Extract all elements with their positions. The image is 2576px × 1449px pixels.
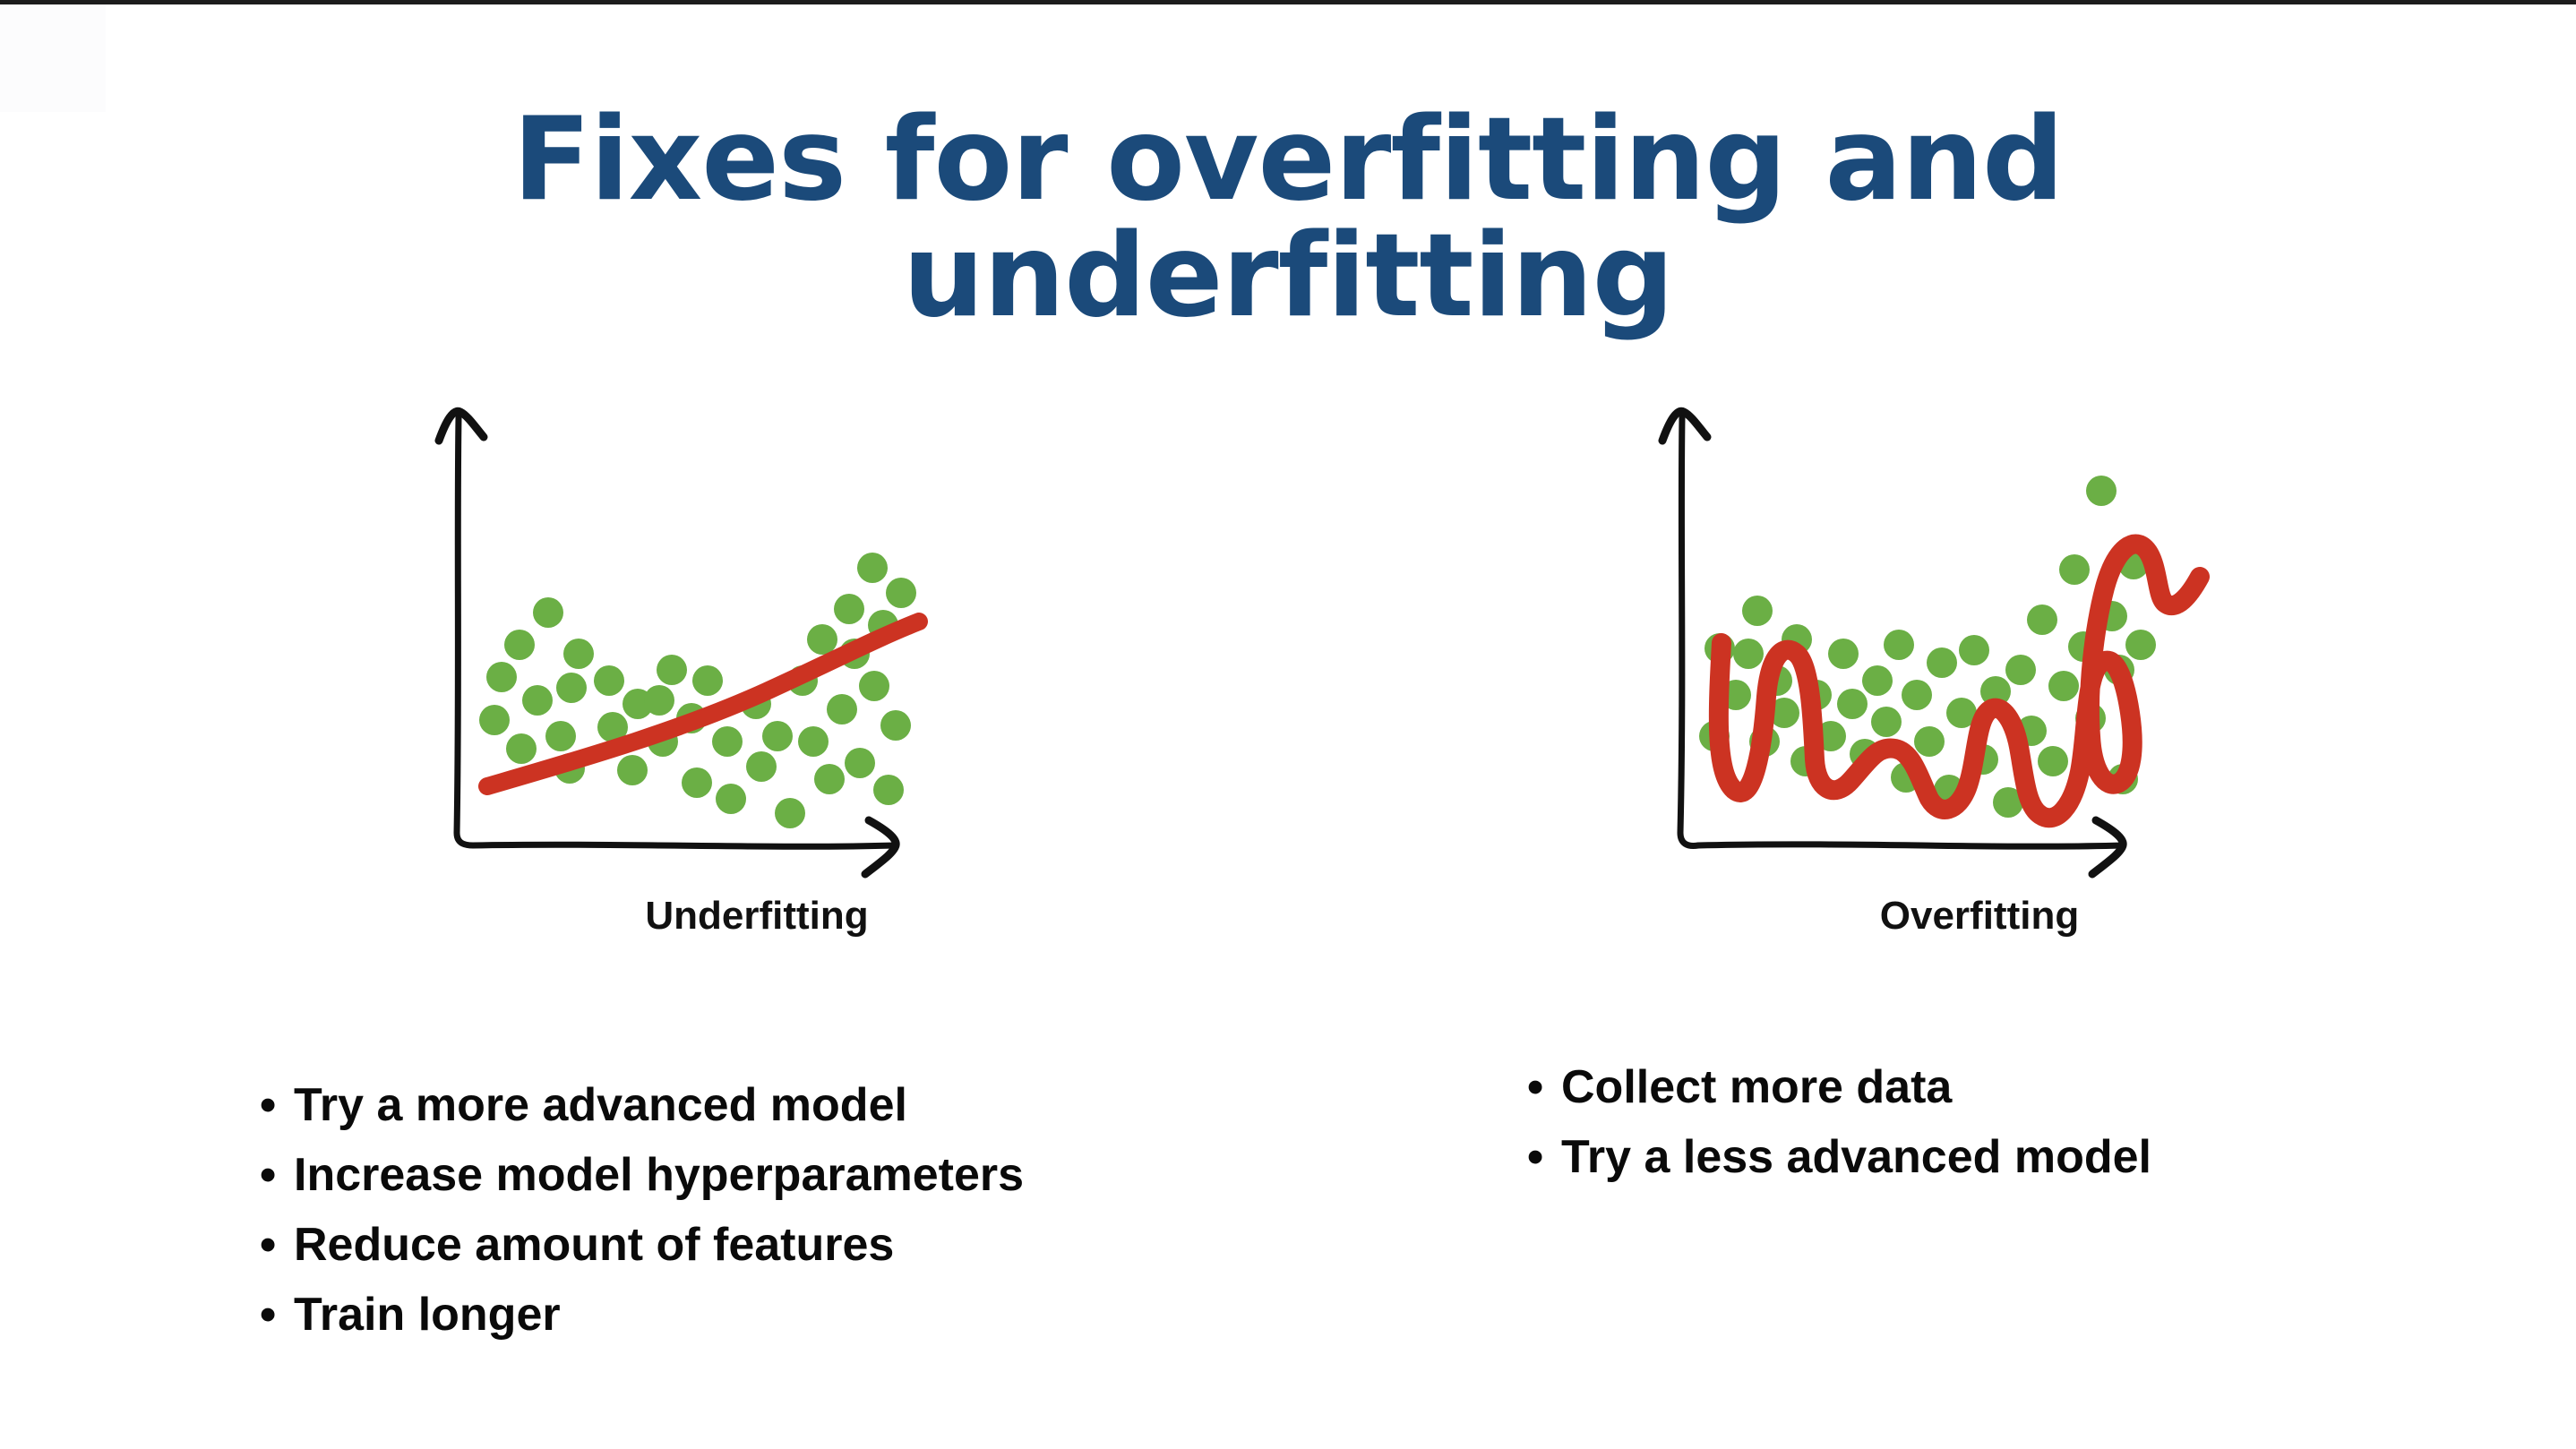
- bullet-dot-icon: [1527, 1122, 1561, 1192]
- slide-canvas: Fixes for overfitting and underfitting: [0, 0, 2576, 1449]
- list-item: Try a less advanced model: [1527, 1122, 2151, 1192]
- chart-underfitting: Underfitting: [394, 385, 1021, 939]
- list-item-label: Try a more advanced model: [294, 1079, 907, 1131]
- list-item-label: Try a less advanced model: [1561, 1131, 2151, 1183]
- list-item-label: Train longer: [294, 1289, 561, 1341]
- list-item: Train longer: [260, 1280, 1024, 1350]
- bullet-dot-icon: [260, 1280, 294, 1350]
- page-title: Fixes for overfitting and underfitting: [0, 102, 2576, 336]
- scatter-dots: [479, 553, 916, 828]
- list-item-label: Collect more data: [1561, 1061, 1952, 1113]
- list-item-label: Reduce amount of features: [294, 1219, 894, 1271]
- list-item: Collect more data: [1527, 1052, 2151, 1122]
- overfitting-plot: [1621, 385, 2248, 887]
- list-item: Increase model hyperparameters: [260, 1140, 1024, 1210]
- bullet-dot-icon: [260, 1140, 294, 1210]
- list-item: Reduce amount of features: [260, 1210, 1024, 1280]
- page-title-line-1: Fixes for overfitting and: [512, 93, 2063, 227]
- chart-caption-underfitting: Underfitting: [394, 894, 1021, 939]
- underfitting-plot: [394, 385, 1021, 887]
- bullet-dot-icon: [260, 1070, 294, 1140]
- corner-swatch: [0, 4, 106, 112]
- bullet-dot-icon: [1527, 1052, 1561, 1122]
- top-bezel-bar: [0, 0, 2576, 4]
- bullet-dot-icon: [260, 1210, 294, 1280]
- fixes-list-overfitting: Collect more data Try a less advanced mo…: [1527, 1052, 2151, 1192]
- page-title-line-2: underfitting: [0, 219, 2576, 336]
- chart-overfitting: Overfitting: [1621, 385, 2248, 939]
- fixes-list-underfitting: Try a more advanced model Increase model…: [260, 1070, 1024, 1350]
- list-item-label: Increase model hyperparameters: [294, 1149, 1024, 1201]
- chart-caption-overfitting: Overfitting: [1621, 894, 2248, 939]
- list-item: Try a more advanced model: [260, 1070, 1024, 1140]
